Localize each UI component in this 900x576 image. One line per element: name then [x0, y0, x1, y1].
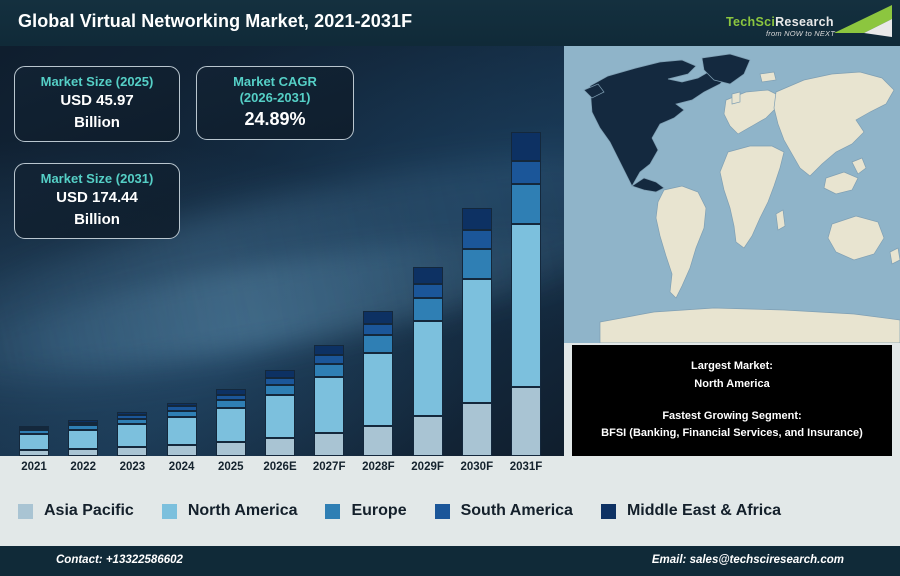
world-map: [564, 46, 900, 343]
x-axis: 202120222023202420252026E2027F2028F2029F…: [0, 456, 564, 482]
infographic-page: Global Virtual Networking Market, 2021-2…: [0, 0, 900, 576]
x-axis-label-2021: 2021: [10, 461, 58, 473]
legend-item-europe[interactable]: Europe: [325, 502, 406, 520]
segment-north-america: [462, 279, 492, 403]
bar-2030F: [462, 208, 492, 456]
x-axis-label-2031F: 2031F: [502, 461, 550, 473]
segment-north-america: [117, 424, 147, 447]
segment-europe: [314, 364, 344, 378]
segment-south-america: [314, 355, 344, 363]
segment-middle-east-africa: [167, 403, 197, 407]
segment-south-america: [216, 395, 246, 400]
segment-north-america: [167, 417, 197, 445]
segment-north-america: [511, 224, 541, 387]
segment-middle-east-africa: [117, 412, 147, 415]
fastest-segment-value: BFSI (Banking, Financial Services, and I…: [580, 426, 884, 442]
largest-market-label: Largest Market:: [580, 359, 884, 375]
bar-2029F: [413, 267, 443, 456]
segment-middle-east-africa: [314, 345, 344, 355]
legend-label: Asia Pacific: [44, 502, 134, 520]
key-facts-box: Largest Market: North America Fastest Gr…: [572, 345, 892, 456]
legend-label: Europe: [351, 502, 406, 520]
footer-email: Email: sales@techsciresearch.com: [652, 554, 844, 566]
segment-asia-pacific: [216, 442, 246, 456]
facts-spacer: [580, 395, 884, 407]
segment-south-america: [363, 324, 393, 335]
legend-label: Middle East & Africa: [627, 502, 781, 520]
legend-item-middle-east-africa[interactable]: Middle East & Africa: [601, 502, 781, 520]
largest-market-value: North America: [580, 377, 884, 393]
legend-swatch-icon: [18, 504, 33, 519]
segment-asia-pacific: [363, 426, 393, 456]
segment-south-america: [117, 415, 147, 419]
stacked-bar-plot: [0, 46, 564, 456]
segment-europe: [216, 400, 246, 408]
legend-swatch-icon: [325, 504, 340, 519]
bar-2031F: [511, 132, 541, 456]
logo-wordmark: TechSciResearch: [726, 15, 834, 29]
bar-2024: [167, 403, 197, 456]
world-map-svg: [564, 46, 900, 343]
segment-south-america: [511, 161, 541, 185]
segment-europe: [167, 411, 197, 418]
segment-europe: [462, 249, 492, 279]
footer-contact: Contact: +13322586602: [56, 554, 183, 566]
segment-asia-pacific: [68, 449, 98, 456]
segment-middle-east-africa: [68, 420, 98, 423]
x-axis-label-2030F: 2030F: [453, 461, 501, 473]
segment-middle-east-africa: [462, 208, 492, 230]
x-axis-label-2028F: 2028F: [354, 461, 402, 473]
x-axis-label-2027F: 2027F: [305, 461, 353, 473]
legend-swatch-icon: [435, 504, 450, 519]
segment-europe: [265, 385, 295, 396]
segment-asia-pacific: [511, 387, 541, 456]
bar-2026E: [265, 370, 295, 456]
legend-label: North America: [188, 502, 298, 520]
segment-south-america: [413, 284, 443, 298]
legend-swatch-icon: [162, 504, 177, 519]
header-bar: Global Virtual Networking Market, 2021-2…: [0, 0, 900, 46]
segment-north-america: [216, 408, 246, 442]
segment-north-america: [314, 377, 344, 433]
legend-item-north-america[interactable]: North America: [162, 502, 298, 520]
fastest-segment-label: Fastest Growing Segment:: [580, 409, 884, 425]
logo-text-research: Research: [775, 15, 834, 29]
segment-asia-pacific: [314, 433, 344, 456]
footer-bar: Contact: +13322586602 Email: sales@techs…: [0, 546, 900, 576]
segment-south-america: [167, 406, 197, 410]
x-axis-label-2029F: 2029F: [404, 461, 452, 473]
segment-europe: [19, 430, 49, 434]
segment-middle-east-africa: [413, 267, 443, 284]
x-axis-label-2022: 2022: [59, 461, 107, 473]
map-region-uk: [732, 92, 740, 104]
segment-north-america: [413, 321, 443, 416]
logo-text-techsci: TechSci: [726, 15, 775, 29]
segment-middle-east-africa: [265, 370, 295, 378]
segment-south-america: [265, 378, 295, 385]
legend-swatch-icon: [601, 504, 616, 519]
segment-middle-east-africa: [216, 389, 246, 395]
techsci-logo: TechSciResearch from NOW to NEXT: [714, 3, 892, 43]
segment-asia-pacific: [413, 416, 443, 456]
legend-item-south-america[interactable]: South America: [435, 502, 573, 520]
segment-europe: [413, 298, 443, 321]
bar-2021: [19, 426, 49, 456]
segment-south-america: [19, 428, 49, 430]
segment-north-america: [363, 353, 393, 426]
segment-middle-east-africa: [19, 426, 49, 428]
segment-middle-east-africa: [511, 132, 541, 161]
segment-asia-pacific: [462, 403, 492, 456]
legend-label: South America: [461, 502, 573, 520]
segment-north-america: [19, 434, 49, 450]
chart-legend: Asia PacificNorth AmericaEuropeSouth Ame…: [0, 482, 900, 540]
segment-north-america: [68, 430, 98, 449]
chart-panel: Market Size (2025) USD 45.97 Billion Mar…: [0, 46, 564, 456]
segment-europe: [363, 335, 393, 353]
map-region-madagascar: [776, 210, 785, 230]
bar-2022: [68, 420, 98, 456]
bar-2028F: [363, 311, 393, 456]
segment-asia-pacific: [265, 438, 295, 456]
segment-south-america: [462, 230, 492, 248]
logo-tagline: from NOW to NEXT: [766, 29, 835, 38]
segment-asia-pacific: [167, 445, 197, 456]
segment-middle-east-africa: [363, 311, 393, 324]
segment-south-america: [68, 423, 98, 426]
x-axis-label-2025: 2025: [207, 461, 255, 473]
legend-item-asia-pacific[interactable]: Asia Pacific: [18, 502, 134, 520]
segment-asia-pacific: [117, 447, 147, 456]
page-title: Global Virtual Networking Market, 2021-2…: [18, 11, 412, 32]
bar-2027F: [314, 345, 344, 456]
x-axis-label-2026E: 2026E: [256, 461, 304, 473]
segment-europe: [117, 419, 147, 425]
segment-europe: [511, 184, 541, 223]
bar-2025: [216, 389, 246, 456]
x-axis-label-2024: 2024: [158, 461, 206, 473]
segment-north-america: [265, 395, 295, 438]
map-region-iceland: [760, 72, 776, 82]
segment-europe: [68, 425, 98, 430]
bar-2023: [117, 412, 147, 456]
x-axis-label-2023: 2023: [108, 461, 156, 473]
